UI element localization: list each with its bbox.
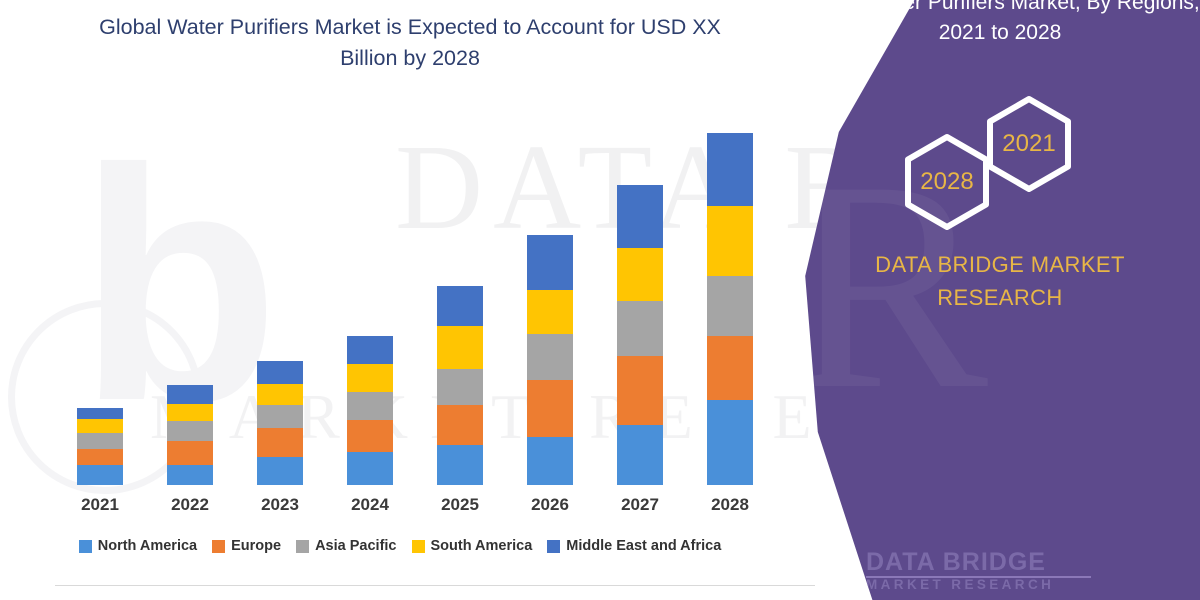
- footer-logo: DATA BRIDGE MARKET RESEARCH: [808, 540, 1168, 600]
- bar-segment: [257, 457, 303, 485]
- bar-segment: [437, 286, 483, 326]
- bar-segment: [167, 465, 213, 485]
- bar-segment: [617, 301, 663, 356]
- bar-segment: [77, 449, 123, 465]
- logo-line-2: MARKET RESEARCH: [866, 576, 1054, 594]
- bar-segment: [617, 425, 663, 485]
- legend-item[interactable]: Asia Pacific: [296, 538, 396, 554]
- legend-swatch: [212, 540, 225, 553]
- legend-item[interactable]: North America: [79, 538, 197, 554]
- bar-segment: [437, 369, 483, 405]
- bar-segment: [77, 433, 123, 449]
- logo-text: DATA BRIDGE MARKET RESEARCH: [866, 548, 1054, 594]
- bar-segment: [527, 334, 573, 380]
- bar-segment: [527, 437, 573, 485]
- bar-segment: [77, 408, 123, 419]
- bar-segment: [617, 356, 663, 425]
- hexagon-2021-label: 2021: [1002, 130, 1055, 158]
- chart-title: Global Water Purifiers Market is Expecte…: [95, 12, 725, 74]
- bar-segment: [347, 420, 393, 452]
- bar-segment: [167, 441, 213, 465]
- brand-panel: R Global Water Purifiers Market, By Regi…: [780, 0, 1200, 600]
- legend-item[interactable]: South America: [412, 538, 533, 554]
- bar-segment: [347, 364, 393, 392]
- bar-segment: [527, 290, 573, 334]
- bar-group: [257, 361, 303, 485]
- x-axis-label: 2026: [505, 495, 595, 515]
- bar-segment: [257, 405, 303, 428]
- legend-label: Middle East and Africa: [566, 538, 721, 554]
- legend-item[interactable]: Middle East and Africa: [547, 538, 721, 554]
- bar-segment: [437, 405, 483, 445]
- legend-swatch: [79, 540, 92, 553]
- bar-segment: [257, 361, 303, 384]
- bar-segment: [77, 419, 123, 433]
- logo-line-1: DATA BRIDGE: [866, 548, 1054, 576]
- bar-segment: [167, 421, 213, 441]
- x-axis-label: 2022: [145, 495, 235, 515]
- bar-group: [77, 408, 123, 485]
- bar-group: [167, 385, 213, 485]
- legend-swatch: [412, 540, 425, 553]
- bar-segment: [167, 404, 213, 421]
- panel-title: Global Water Purifiers Market, By Region…: [800, 0, 1200, 48]
- bar-segment: [707, 400, 753, 485]
- bar-segment: [707, 276, 753, 336]
- x-axis-label: 2027: [595, 495, 685, 515]
- legend-label: North America: [98, 538, 197, 554]
- bar-segment: [437, 445, 483, 485]
- x-axis-labels: 20212022202320242025202620272028: [55, 495, 800, 523]
- bar-segment: [707, 133, 753, 206]
- brand-name: DATA BRIDGE MARKET RESEARCH: [800, 248, 1200, 314]
- legend-label: Europe: [231, 538, 281, 554]
- bar-segment: [527, 235, 573, 290]
- logo-divider: [866, 576, 1091, 578]
- legend-swatch: [296, 540, 309, 553]
- bar-segment: [617, 185, 663, 248]
- hexagon-2021: 2021: [980, 95, 1078, 193]
- bar-segment: [77, 465, 123, 485]
- x-axis-label: 2024: [325, 495, 415, 515]
- x-axis-label: 2021: [55, 495, 145, 515]
- legend-item[interactable]: Europe: [212, 538, 281, 554]
- bar-group: [347, 336, 393, 485]
- bar-segment: [347, 452, 393, 485]
- bar-group: [617, 185, 663, 485]
- bar-group: [527, 235, 573, 485]
- brand-line-1: DATA BRIDGE MARKET: [800, 248, 1200, 281]
- chart-plot-area: [55, 100, 795, 485]
- bar-segment: [707, 206, 753, 276]
- bar-group: [707, 133, 753, 485]
- bar-segment: [347, 392, 393, 420]
- bar-segment: [347, 336, 393, 364]
- legend-swatch: [547, 540, 560, 553]
- hexagon-group: 2028 2021: [890, 95, 1180, 230]
- bar-segment: [707, 336, 753, 400]
- brand-line-2: RESEARCH: [800, 281, 1200, 314]
- bar-segment: [617, 248, 663, 301]
- chart-legend: North AmericaEuropeAsia PacificSouth Ame…: [0, 538, 800, 554]
- hexagon-2028-label: 2028: [920, 168, 973, 196]
- legend-label: South America: [431, 538, 533, 554]
- infographic-root: b DATA BRIDGE MARKET RESEARCH Global Wat…: [0, 0, 1200, 600]
- bar-segment: [167, 385, 213, 404]
- bar-segment: [257, 384, 303, 405]
- bar-segment: [527, 380, 573, 437]
- x-axis-label: 2025: [415, 495, 505, 515]
- x-axis-label: 2028: [685, 495, 775, 515]
- logo-b-mark: [808, 542, 852, 600]
- bar-segment: [257, 428, 303, 457]
- bar-segment: [437, 326, 483, 369]
- x-axis-line: [55, 585, 815, 586]
- bar-group: [437, 286, 483, 485]
- legend-label: Asia Pacific: [315, 538, 396, 554]
- x-axis-label: 2023: [235, 495, 325, 515]
